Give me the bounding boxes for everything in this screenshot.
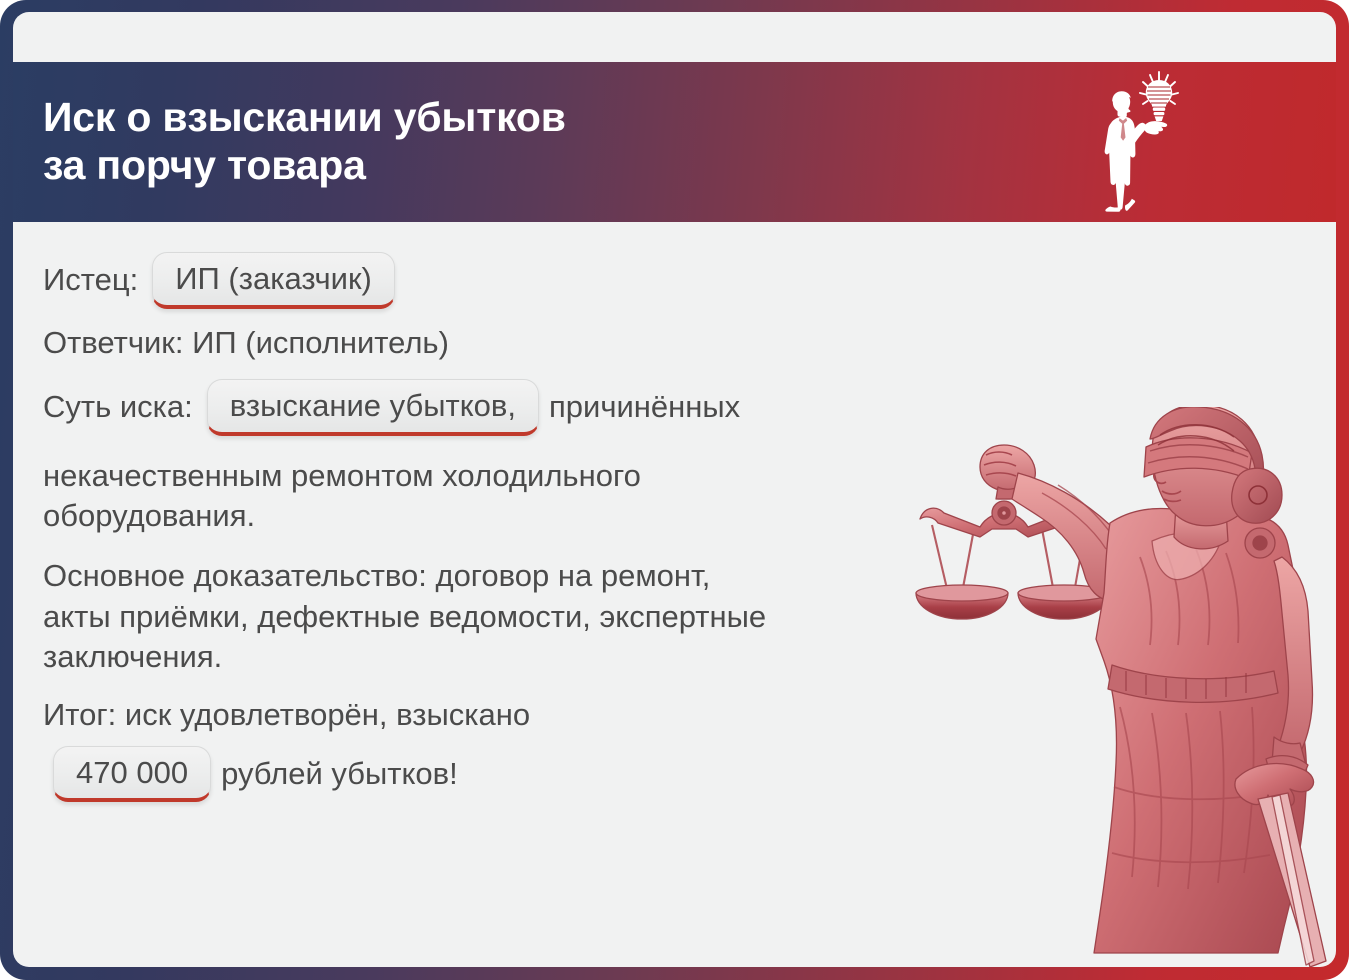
spacer bbox=[43, 309, 1306, 323]
amount-row: 470 000 рублей убытков! bbox=[43, 746, 963, 803]
evidence-paragraph: Основное доказательство: договор на ремо… bbox=[43, 556, 943, 677]
result-label: Итог: иск удовлетворён, взыскано bbox=[43, 695, 530, 735]
spacer bbox=[43, 536, 1306, 556]
page-title: Иск о взыскании убытков за порчу товара bbox=[43, 94, 566, 190]
spacer bbox=[43, 363, 1306, 379]
spacer bbox=[43, 436, 1306, 456]
infographic-card-frame: Иск о взыскании убытков за порчу товара bbox=[0, 0, 1349, 980]
amount-value-chip[interactable]: 470 000 bbox=[53, 746, 211, 803]
card-body: Истец: ИП (заказчик) Ответчик: ИП (испол… bbox=[13, 224, 1336, 967]
plaintiff-label: Истец: bbox=[43, 260, 138, 300]
result-row: Итог: иск удовлетворён, взыскано bbox=[43, 695, 963, 735]
infographic-card: Иск о взыскании убытков за порчу товара bbox=[13, 12, 1336, 967]
plaintiff-row: Истец: ИП (заказчик) bbox=[43, 252, 963, 309]
card-header: Иск о взыскании убытков за порчу товара bbox=[13, 62, 1336, 222]
claim-value-chip[interactable]: взыскание убытков, bbox=[207, 379, 539, 436]
defendant-label: Ответчик: ИП (исполнитель) bbox=[43, 323, 449, 363]
claim-row: Суть иска: взыскание убытков, причинённы… bbox=[43, 379, 963, 436]
claim-suffix: причинённых bbox=[549, 387, 740, 427]
spacer bbox=[43, 736, 1306, 746]
amount-suffix: рублей убытков! bbox=[221, 754, 458, 794]
defendant-row: Ответчик: ИП (исполнитель) bbox=[43, 323, 963, 363]
spacer bbox=[43, 677, 1306, 695]
claim-label: Суть иска: bbox=[43, 387, 193, 427]
businessman-with-lightbulb-icon bbox=[1088, 66, 1198, 216]
claim-continuation-paragraph: некачественным ремонтом холодильного обо… bbox=[43, 456, 943, 537]
plaintiff-value-chip[interactable]: ИП (заказчик) bbox=[152, 252, 395, 309]
